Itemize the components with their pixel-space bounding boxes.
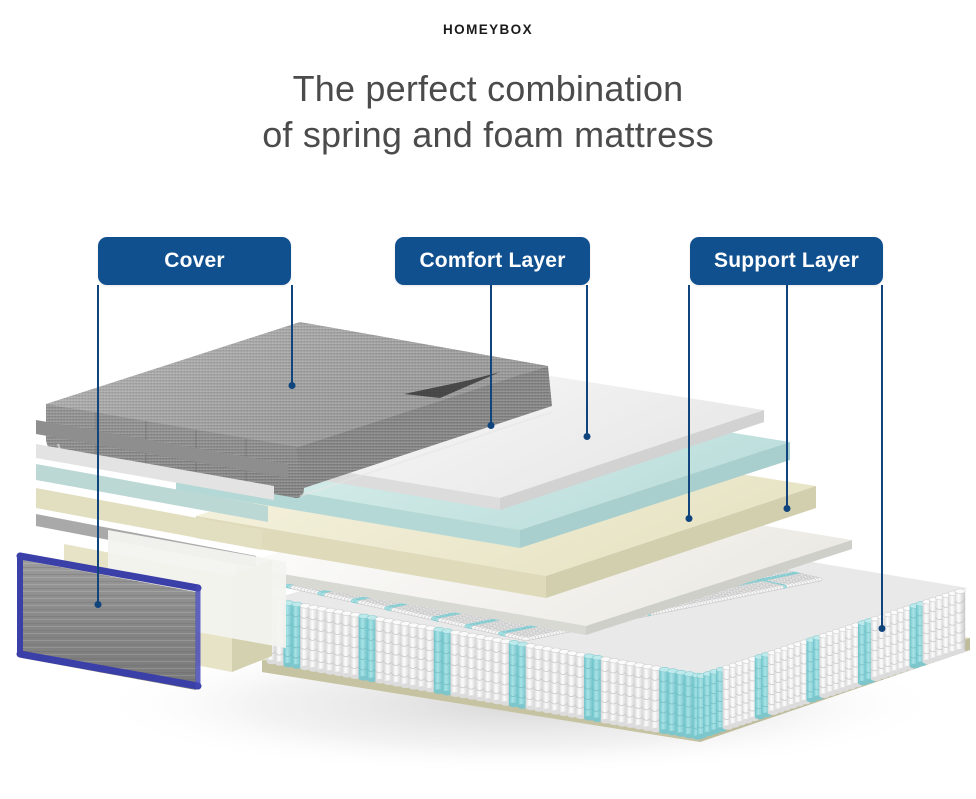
leader-dot (685, 515, 692, 522)
leader-line-comfort-2 (586, 285, 588, 437)
side-fabric-panel (20, 530, 286, 690)
leader-dot (487, 422, 494, 429)
leader-line-support-1 (688, 285, 690, 519)
leader-line-cover-2 (291, 285, 293, 386)
brand-name: HOMEYBOX (0, 22, 976, 37)
leader-dot (583, 433, 590, 440)
page-title: The perfect combination of spring and fo… (0, 66, 976, 158)
leader-line-cover-1 (97, 285, 99, 605)
leader-line-support-2 (786, 285, 788, 509)
leader-dot (878, 625, 885, 632)
infographic-canvas: HOMEYBOX The perfect combination of spri… (0, 0, 976, 799)
callout-label-support[interactable]: Support Layer (690, 237, 883, 285)
leader-line-comfort-1 (490, 285, 492, 426)
leader-line-support-3 (881, 285, 883, 629)
leader-dot (94, 601, 101, 608)
leader-dot (288, 382, 295, 389)
callout-label-comfort[interactable]: Comfort Layer (395, 237, 590, 285)
leader-dot (783, 505, 790, 512)
callout-label-cover[interactable]: Cover (98, 237, 291, 285)
